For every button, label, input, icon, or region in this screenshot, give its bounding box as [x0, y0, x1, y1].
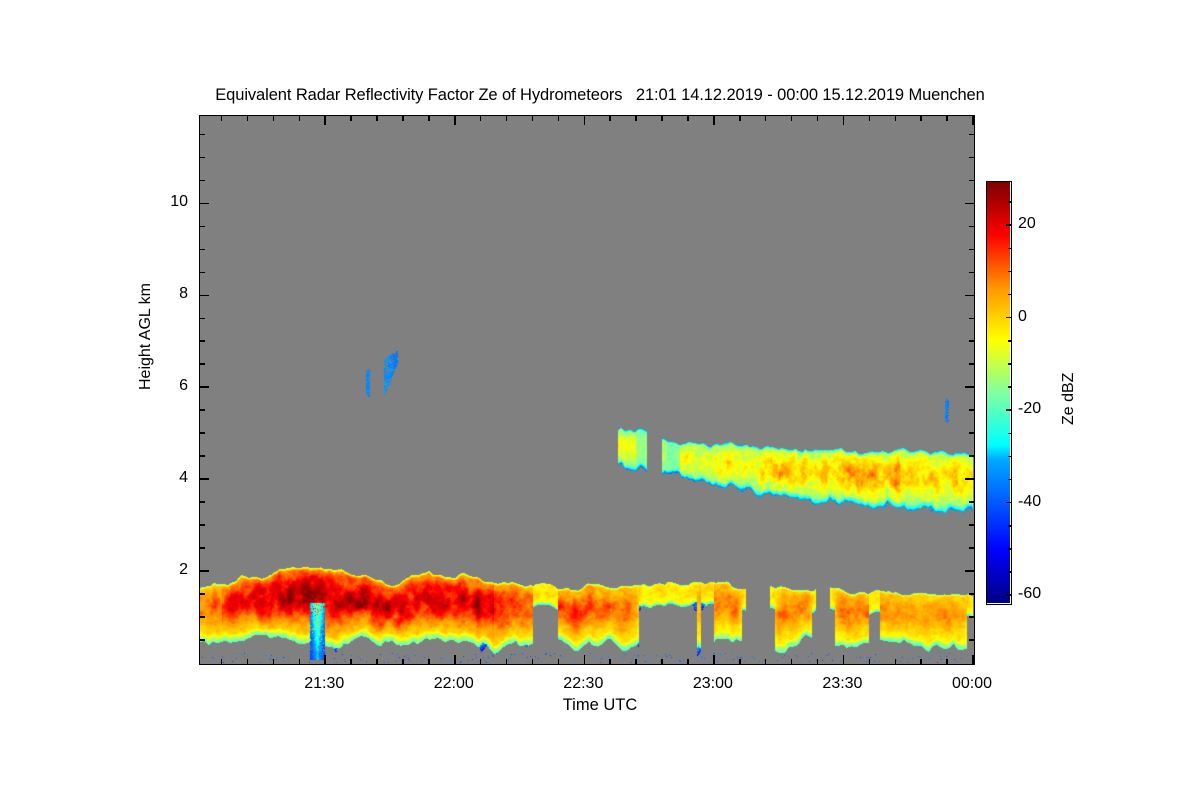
- x-axis-tick: [972, 116, 974, 125]
- x-axis-minor-tick: [273, 116, 275, 121]
- x-axis-minor-tick: [376, 659, 378, 664]
- y-axis-minor-tick: [969, 157, 974, 159]
- colorbar-minor-tick: [1008, 571, 1011, 573]
- y-axis-minor-tick: [969, 272, 974, 274]
- colorbar-tick: [1006, 594, 1011, 596]
- y-axis-tick: [965, 570, 974, 572]
- y-axis-minor-tick: [969, 249, 974, 251]
- x-axis-minor-tick: [480, 116, 482, 121]
- colorbar-gradient: [987, 182, 1010, 603]
- x-axis-tick: [324, 655, 326, 664]
- y-axis-minor-tick: [969, 134, 974, 136]
- x-axis-minor-tick: [350, 659, 352, 664]
- colorbar-minor-tick: [1008, 294, 1011, 296]
- y-axis-minor-tick: [969, 318, 974, 320]
- y-axis-tick-label: 2: [140, 561, 188, 579]
- colorbar-tick: [1006, 317, 1011, 319]
- y-axis-minor-tick: [200, 249, 205, 251]
- x-axis-minor-tick: [221, 659, 223, 664]
- colorbar-minor-tick: [1008, 386, 1011, 388]
- y-axis-minor-tick: [200, 180, 205, 182]
- y-axis-minor-tick: [969, 226, 974, 228]
- colorbar-tick: [1006, 224, 1011, 226]
- x-axis-tick: [843, 116, 845, 125]
- x-axis-minor-tick: [402, 659, 404, 664]
- x-axis-minor-tick: [661, 659, 663, 664]
- radar-figure: Equivalent Radar Reflectivity Factor Ze …: [0, 0, 1200, 800]
- colorbar-tick-label: 0: [1018, 308, 1027, 326]
- y-axis-minor-tick: [200, 547, 205, 549]
- y-axis-minor-tick: [969, 616, 974, 618]
- y-axis-tick-label: 10: [140, 193, 188, 211]
- y-axis-minor-tick: [200, 432, 205, 434]
- colorbar-minor-tick: [1008, 248, 1011, 250]
- y-axis-tick: [965, 478, 974, 480]
- y-axis-tick: [200, 295, 209, 297]
- x-axis-minor-tick: [558, 659, 560, 664]
- y-axis-tick: [965, 203, 974, 205]
- colorbar-tick-label: 20: [1018, 215, 1036, 233]
- colorbar-tick: [1006, 409, 1011, 411]
- colorbar-minor-tick: [1008, 363, 1011, 365]
- x-axis-minor-tick: [869, 116, 871, 121]
- x-axis-minor-tick: [480, 659, 482, 664]
- y-axis-minor-tick: [200, 363, 205, 365]
- x-axis-tick-label: 21:30: [304, 675, 344, 693]
- x-axis-minor-tick: [506, 659, 508, 664]
- y-axis-tick: [200, 478, 209, 480]
- y-axis-minor-tick: [200, 409, 205, 411]
- x-axis-minor-tick: [895, 659, 897, 664]
- y-axis-minor-tick: [200, 157, 205, 159]
- y-axis-minor-tick: [200, 524, 205, 526]
- x-axis-minor-tick: [350, 116, 352, 121]
- x-axis-minor-tick: [765, 659, 767, 664]
- y-axis-minor-tick: [969, 593, 974, 595]
- x-axis-minor-tick: [895, 116, 897, 121]
- x-axis-minor-tick: [532, 659, 534, 664]
- y-axis-tick: [965, 386, 974, 388]
- y-axis-minor-tick: [969, 455, 974, 457]
- x-axis-minor-tick: [376, 116, 378, 121]
- y-axis-tick-label: 4: [140, 469, 188, 487]
- x-axis-tick-label: 00:00: [952, 675, 992, 693]
- y-axis-title: Height AGL km: [137, 283, 155, 390]
- y-axis-minor-tick: [969, 524, 974, 526]
- y-axis-minor-tick: [200, 593, 205, 595]
- y-axis-minor-tick: [200, 272, 205, 274]
- x-axis-tick: [324, 116, 326, 125]
- colorbar-tick-label: -60: [1018, 585, 1041, 603]
- x-axis-minor-tick: [687, 659, 689, 664]
- y-axis-minor-tick: [969, 501, 974, 503]
- x-axis-tick: [972, 655, 974, 664]
- y-axis-minor-tick: [969, 409, 974, 411]
- y-axis-tick: [200, 203, 209, 205]
- y-axis-minor-tick: [969, 432, 974, 434]
- colorbar-tick: [1006, 502, 1011, 504]
- x-axis-minor-tick: [817, 659, 819, 664]
- x-axis-tick: [843, 655, 845, 664]
- y-axis-minor-tick: [969, 180, 974, 182]
- y-axis-tick: [200, 570, 209, 572]
- colorbar-minor-tick: [1008, 433, 1011, 435]
- colorbar: [986, 181, 1012, 605]
- x-axis-minor-tick: [506, 116, 508, 121]
- colorbar-minor-tick: [1008, 479, 1011, 481]
- x-axis-minor-tick: [920, 659, 922, 664]
- colorbar-tick-label: -20: [1018, 400, 1041, 418]
- x-axis-minor-tick: [428, 659, 430, 664]
- x-axis-tick: [454, 655, 456, 664]
- x-axis-minor-tick: [869, 659, 871, 664]
- x-axis-tick-label: 22:30: [563, 675, 603, 693]
- x-axis-tick: [584, 116, 586, 125]
- colorbar-title: Ze dBZ: [1060, 373, 1078, 425]
- x-axis-minor-tick: [299, 116, 301, 121]
- x-axis-minor-tick: [428, 116, 430, 121]
- y-axis-minor-tick: [969, 363, 974, 365]
- x-axis-tick-label: 22:00: [434, 675, 474, 693]
- colorbar-minor-tick: [1008, 340, 1011, 342]
- y-axis-minor-tick: [969, 340, 974, 342]
- y-axis-minor-tick: [200, 340, 205, 342]
- x-axis-minor-tick: [273, 659, 275, 664]
- x-axis-minor-tick: [609, 116, 611, 121]
- x-axis-minor-tick: [221, 116, 223, 121]
- x-axis-minor-tick: [920, 116, 922, 121]
- x-axis-minor-tick: [609, 659, 611, 664]
- x-axis-title: Time UTC: [0, 696, 1200, 715]
- y-axis-minor-tick: [200, 134, 205, 136]
- x-axis-minor-tick: [299, 659, 301, 664]
- y-axis-minor-tick: [969, 639, 974, 641]
- x-axis-minor-tick: [532, 116, 534, 121]
- x-axis-minor-tick: [247, 659, 249, 664]
- x-axis-tick: [713, 116, 715, 125]
- x-axis-minor-tick: [946, 659, 948, 664]
- x-axis-minor-tick: [635, 659, 637, 664]
- y-axis-tick: [965, 295, 974, 297]
- y-axis-minor-tick: [200, 226, 205, 228]
- x-axis-minor-tick: [739, 116, 741, 121]
- y-axis-minor-tick: [200, 318, 205, 320]
- y-axis-minor-tick: [200, 501, 205, 503]
- x-axis-minor-tick: [687, 116, 689, 121]
- x-axis-minor-tick: [791, 659, 793, 664]
- x-axis-tick: [454, 116, 456, 125]
- x-axis-minor-tick: [247, 116, 249, 121]
- x-axis-tick: [713, 655, 715, 664]
- x-axis-minor-tick: [946, 116, 948, 121]
- colorbar-minor-tick: [1008, 201, 1011, 203]
- colorbar-minor-tick: [1008, 548, 1011, 550]
- y-axis-minor-tick: [200, 639, 205, 641]
- x-axis-minor-tick: [558, 116, 560, 121]
- x-axis-minor-tick: [739, 659, 741, 664]
- colorbar-minor-tick: [1008, 271, 1011, 273]
- x-axis-minor-tick: [635, 116, 637, 121]
- y-axis-minor-tick: [200, 455, 205, 457]
- plot-area: [199, 115, 975, 665]
- colorbar-tick-label: -40: [1018, 493, 1041, 511]
- y-axis-minor-tick: [969, 547, 974, 549]
- x-axis-minor-tick: [661, 116, 663, 121]
- colorbar-minor-tick: [1008, 456, 1011, 458]
- page-title: Equivalent Radar Reflectivity Factor Ze …: [0, 86, 1200, 105]
- y-axis-minor-tick: [200, 616, 205, 618]
- x-axis-tick: [584, 655, 586, 664]
- x-axis-minor-tick: [817, 116, 819, 121]
- y-axis-tick: [200, 386, 209, 388]
- x-axis-minor-tick: [402, 116, 404, 121]
- x-axis-minor-tick: [765, 116, 767, 121]
- radar-heatmap-canvas: [200, 116, 973, 663]
- x-axis-tick-label: 23:30: [822, 675, 862, 693]
- colorbar-minor-tick: [1008, 525, 1011, 527]
- x-axis-tick-label: 23:00: [693, 675, 733, 693]
- x-axis-minor-tick: [791, 116, 793, 121]
